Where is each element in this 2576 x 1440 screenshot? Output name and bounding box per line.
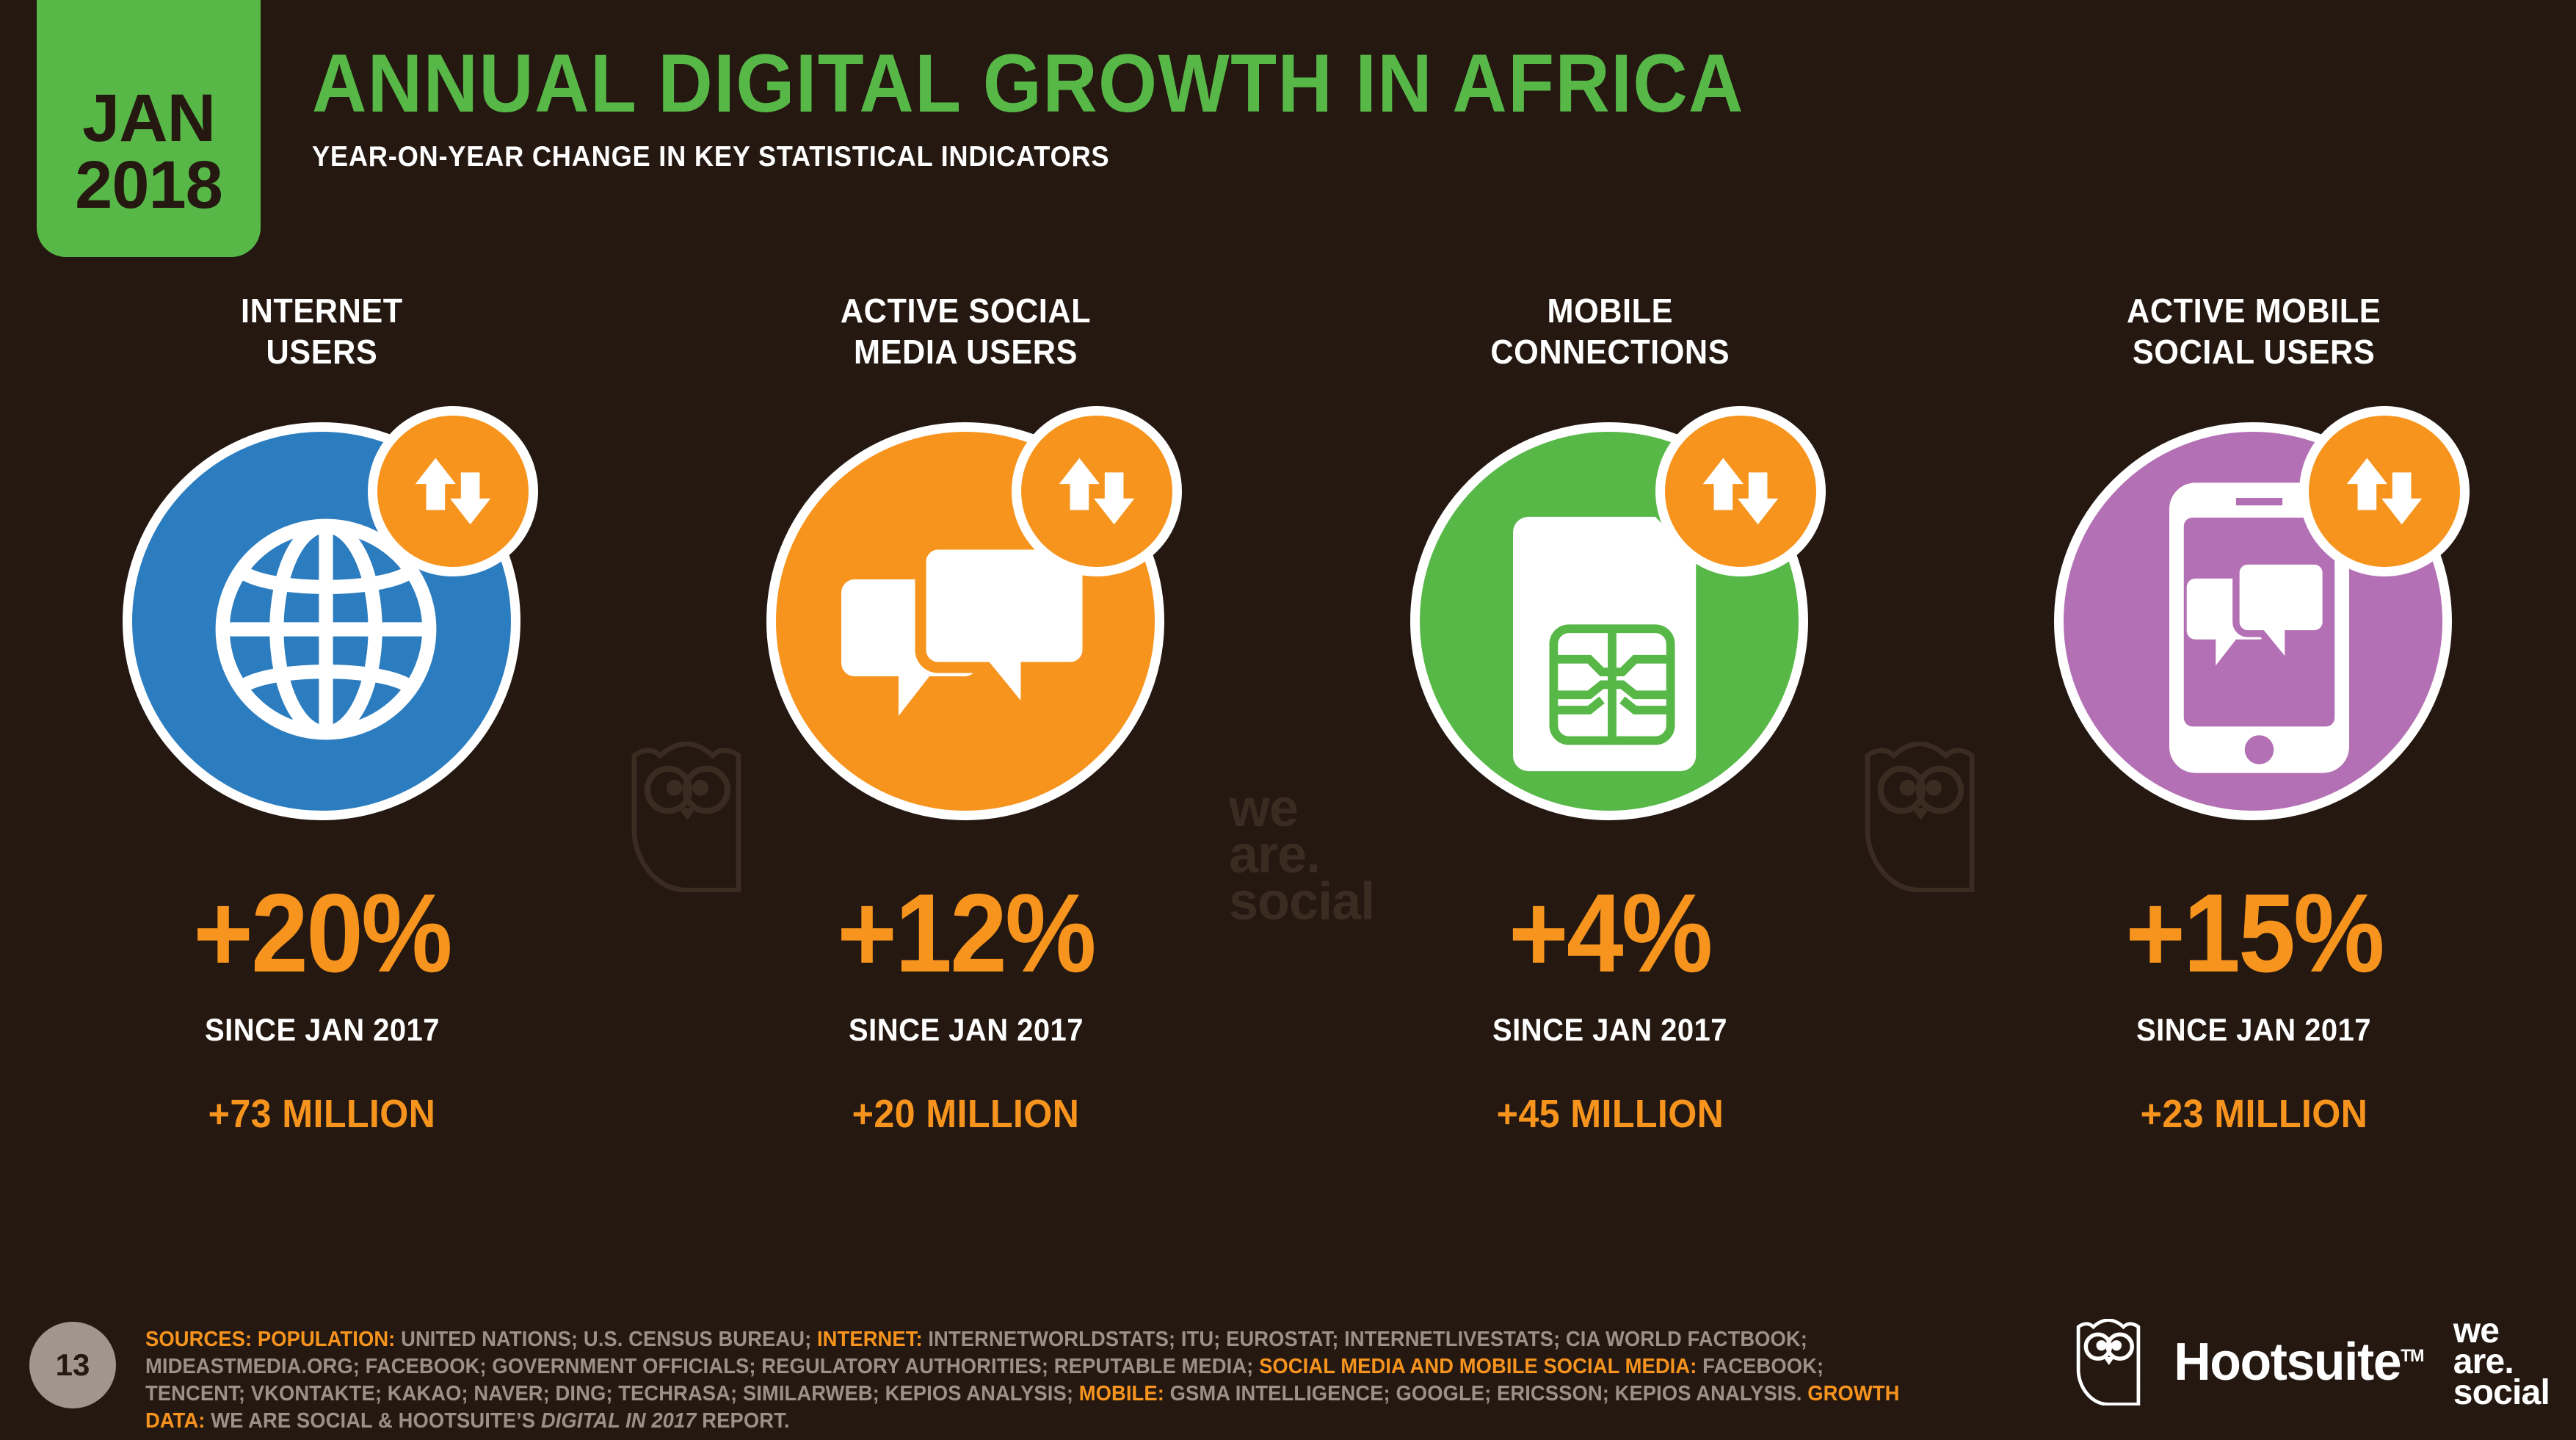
metric-column-active-mobile-social-users: ACTIVE MOBILE SOCIAL USERS — [1932, 290, 2576, 1137]
sources-segment-text: REPORT. — [697, 1409, 790, 1433]
metric-absolute: +20 MILLION — [852, 1091, 1080, 1137]
metric-icon — [102, 402, 543, 842]
sources-segment-text: WE ARE SOCIAL & HOOTSUITE’S — [206, 1409, 541, 1433]
metric-percent: +15% — [2125, 878, 2383, 989]
sources-note: SOURCES: POPULATION: UNITED NATIONS; U.S… — [145, 1326, 1921, 1435]
metric-column-active-social-media-users: ACTIVE SOCIAL MEDIA USERS +12% SINCE JAN… — [644, 290, 1288, 1137]
metric-heading-line2: USERS — [241, 331, 403, 372]
metric-column-mobile-connections: MOBILE CONNECTIONS — [1288, 290, 1932, 1137]
metric-percent: +20% — [193, 878, 451, 989]
metric-heading: INTERNET USERS — [241, 290, 403, 386]
metric-absolute: +23 MILLION — [2141, 1091, 2368, 1137]
metric-heading: ACTIVE MOBILE SOCIAL USERS — [2127, 290, 2381, 386]
growth-arrows-badge — [368, 406, 538, 576]
brand-lockup: HootsuiteTM we are. social — [2073, 1316, 2550, 1409]
page-number-badge: 13 — [29, 1322, 116, 1408]
metric-icon — [1390, 402, 1830, 842]
title-block: ANNUAL DIGITAL GROWTH IN AFRICA YEAR-ON-… — [312, 43, 1868, 173]
hootsuite-wordmark-text: Hootsuite — [2174, 1333, 2401, 1392]
page-title: ANNUAL DIGITAL GROWTH IN AFRICA — [312, 43, 1744, 125]
slide-canvas: JAN 2018 ANNUAL DIGITAL GROWTH IN AFRICA… — [0, 0, 2576, 1440]
sources-label: SOURCES: — [145, 1328, 252, 1351]
date-badge: JAN 2018 — [37, 0, 261, 257]
hootsuite-owl-icon — [2073, 1319, 2144, 1405]
metrics-row: INTERNET USERS — [0, 290, 2576, 1137]
page-subtitle: YEAR-ON-YEAR CHANGE IN KEY STATISTICAL I… — [312, 141, 1760, 173]
up-down-arrows-icon — [409, 444, 497, 539]
metric-percent: +4% — [1509, 878, 1710, 989]
metric-icon — [746, 402, 1186, 842]
metric-absolute: +45 MILLION — [1496, 1091, 1724, 1137]
metric-since: SINCE JAN 2017 — [1492, 1013, 1727, 1049]
growth-arrows-badge — [1655, 406, 1826, 576]
metric-absolute: +73 MILLION — [208, 1091, 436, 1137]
metric-heading: MOBILE CONNECTIONS — [1490, 290, 1730, 386]
sources-segment-text: UNITED NATIONS; U.S. CENSUS BUREAU; — [395, 1328, 817, 1351]
metric-percent: +12% — [838, 878, 1095, 989]
sources-segment-label: INTERNET: — [817, 1328, 923, 1351]
sources-segment-label: MOBILE: — [1079, 1382, 1164, 1405]
up-down-arrows-icon — [2340, 444, 2428, 539]
metric-heading-line2: CONNECTIONS — [1490, 331, 1730, 372]
metric-since: SINCE JAN 2017 — [849, 1013, 1084, 1049]
sources-segment-label: SOCIAL MEDIA AND MOBILE SOCIAL MEDIA: — [1259, 1355, 1697, 1378]
metric-heading-line1: MOBILE — [1490, 290, 1730, 331]
metric-column-internet-users: INTERNET USERS — [0, 290, 644, 1137]
up-down-arrows-icon — [1697, 444, 1785, 539]
date-badge-year: 2018 — [75, 152, 222, 219]
metric-since: SINCE JAN 2017 — [2136, 1013, 2371, 1049]
sources-segment-label: POPULATION: — [252, 1328, 395, 1351]
metric-heading-line1: ACTIVE SOCIAL — [841, 290, 1091, 331]
metric-heading-line2: MEDIA USERS — [841, 331, 1091, 372]
up-down-arrows-icon — [1053, 444, 1141, 539]
sim-card-icon — [1513, 515, 1711, 773]
we-are-social-wordmark: we are. social — [2453, 1316, 2550, 1409]
metric-icon — [2033, 402, 2474, 842]
metric-heading-line2: SOCIAL USERS — [2127, 331, 2381, 372]
sources-body: POPULATION: UNITED NATIONS; U.S. CENSUS … — [145, 1328, 1899, 1433]
sources-segment-text: DIGITAL IN 2017 — [541, 1409, 697, 1433]
date-badge-month: JAN — [82, 85, 215, 152]
metric-heading-line1: ACTIVE MOBILE — [2127, 290, 2381, 331]
we-are-social-line3: social — [2453, 1378, 2550, 1408]
growth-arrows-badge — [1012, 406, 1182, 576]
sources-segment-text: GSMA INTELLIGENCE; GOOGLE; ERICSSON; KEP… — [1164, 1382, 1807, 1405]
metric-heading-line1: INTERNET — [241, 290, 403, 331]
metric-since: SINCE JAN 2017 — [205, 1013, 440, 1049]
hootsuite-wordmark: HootsuiteTM — [2174, 1336, 2423, 1389]
metric-heading: ACTIVE SOCIAL MEDIA USERS — [841, 290, 1091, 386]
growth-arrows-badge — [2299, 406, 2470, 576]
hootsuite-tm: TM — [2401, 1346, 2423, 1366]
